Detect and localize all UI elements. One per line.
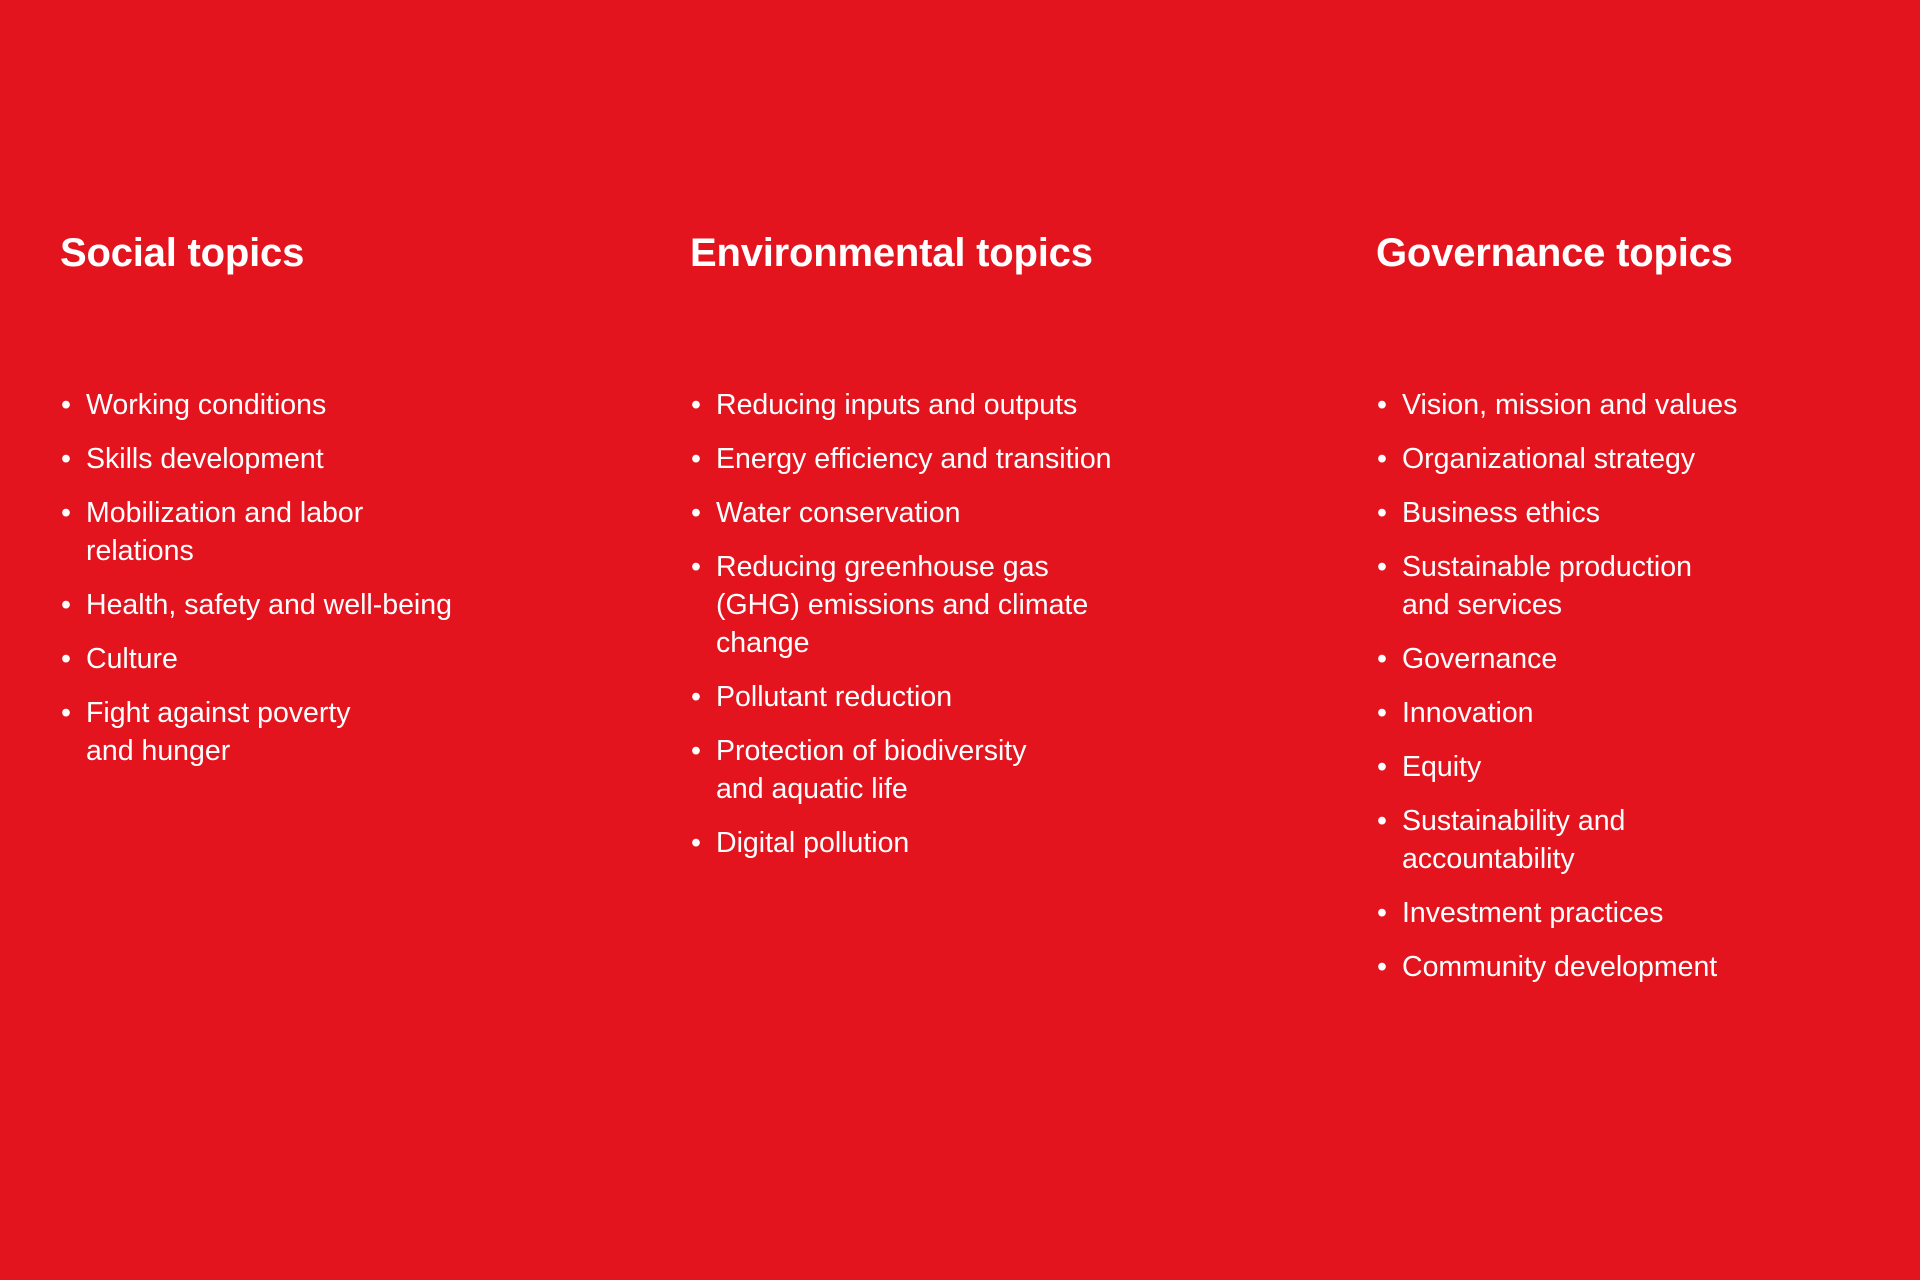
column-heading-social: Social topics [60,230,605,276]
esg-topics-slide: Social topics • Working conditions • Ski… [0,0,1920,1280]
list-item-label: Business ethics [1402,494,1890,532]
list-item-label: Reducing inputs and outputs [716,386,1288,424]
list-item-label: Health, safety and well-being [86,586,605,624]
list-item-label: Water conservation [716,494,1288,532]
bullet-icon: • [1377,894,1397,932]
list-item: • Protection of biodiversity and aquatic… [690,732,1288,808]
list-item: • Mobilization and labor relations [60,494,605,570]
list-item: • Health, safety and well-being [60,586,605,624]
list-item-label: Governance [1402,640,1890,678]
bullet-icon: • [691,386,711,424]
list-item: • Culture [60,640,605,678]
bullet-icon: • [1377,748,1397,786]
topic-list-environmental: • Reducing inputs and outputs • Energy e… [690,386,1288,862]
bullet-icon: • [691,732,711,770]
list-item: • Digital pollution [690,824,1288,862]
list-item: • Community development [1376,948,1890,986]
list-item: • Sustainability and accountability [1376,802,1890,878]
bullet-icon: • [61,694,81,732]
list-item: • Pollutant reduction [690,678,1288,716]
list-item: • Reducing inputs and outputs [690,386,1288,424]
bullet-icon: • [1377,494,1397,532]
list-item-label: Pollutant reduction [716,678,1288,716]
bullet-icon: • [1377,694,1397,732]
list-item: • Skills development [60,440,605,478]
list-item-label: Working conditions [86,386,605,424]
bullet-icon: • [61,640,81,678]
topic-list-social: • Working conditions • Skills developmen… [60,386,605,770]
bullet-icon: • [691,548,711,586]
list-item-label: Digital pollution [716,824,1288,862]
bullet-icon: • [61,586,81,624]
list-item: • Business ethics [1376,494,1890,532]
bullet-icon: • [61,494,81,532]
bullet-icon: • [691,440,711,478]
list-item-label: Innovation [1402,694,1890,732]
list-item-label: Vision, mission and values [1402,386,1890,424]
topic-column-social: Social topics • Working conditions • Ski… [0,0,645,770]
bullet-icon: • [691,824,711,862]
list-item-label: Reducing greenhouse gas (GHG) emissions … [716,548,1288,662]
bullet-icon: • [61,386,81,424]
list-item: • Water conservation [690,494,1288,532]
list-item: • Equity [1376,748,1890,786]
list-item-label: Equity [1402,748,1890,786]
list-item: • Innovation [1376,694,1890,732]
list-item: • Energy efficiency and transition [690,440,1288,478]
list-item: • Governance [1376,640,1890,678]
list-item-label: Community development [1402,948,1890,986]
list-item: • Investment practices [1376,894,1890,932]
list-item: • Reducing greenhouse gas (GHG) emission… [690,548,1288,662]
column-heading-governance: Governance topics [1376,230,1890,276]
bullet-icon: • [61,440,81,478]
list-item: • Working conditions [60,386,605,424]
list-item-label: Sustainable production and services [1402,548,1890,624]
bullet-icon: • [1377,386,1397,424]
topic-columns-container: Social topics • Working conditions • Ski… [0,0,1920,1280]
list-item: • Organizational strategy [1376,440,1890,478]
bullet-icon: • [1377,640,1397,678]
bullet-icon: • [1377,948,1397,986]
bullet-icon: • [1377,802,1397,840]
list-item-label: Mobilization and labor relations [86,494,605,570]
topic-column-governance: Governance topics • Vision, mission and … [1328,0,1920,986]
list-item: • Sustainable production and services [1376,548,1890,624]
bullet-icon: • [691,678,711,716]
list-item: • Vision, mission and values [1376,386,1890,424]
bullet-icon: • [1377,440,1397,478]
bullet-icon: • [691,494,711,532]
topic-column-environmental: Environmental topics • Reducing inputs a… [645,0,1328,862]
bullet-icon: • [1377,548,1397,586]
list-item-label: Culture [86,640,605,678]
topic-list-governance: • Vision, mission and values • Organizat… [1376,386,1890,986]
list-item-label: Organizational strategy [1402,440,1890,478]
list-item-label: Fight against poverty and hunger [86,694,605,770]
list-item-label: Investment practices [1402,894,1890,932]
list-item: • Fight against poverty and hunger [60,694,605,770]
list-item-label: Protection of biodiversity and aquatic l… [716,732,1288,808]
list-item-label: Sustainability and accountability [1402,802,1890,878]
list-item-label: Energy efficiency and transition [716,440,1288,478]
list-item-label: Skills development [86,440,605,478]
column-heading-environmental: Environmental topics [690,230,1288,276]
